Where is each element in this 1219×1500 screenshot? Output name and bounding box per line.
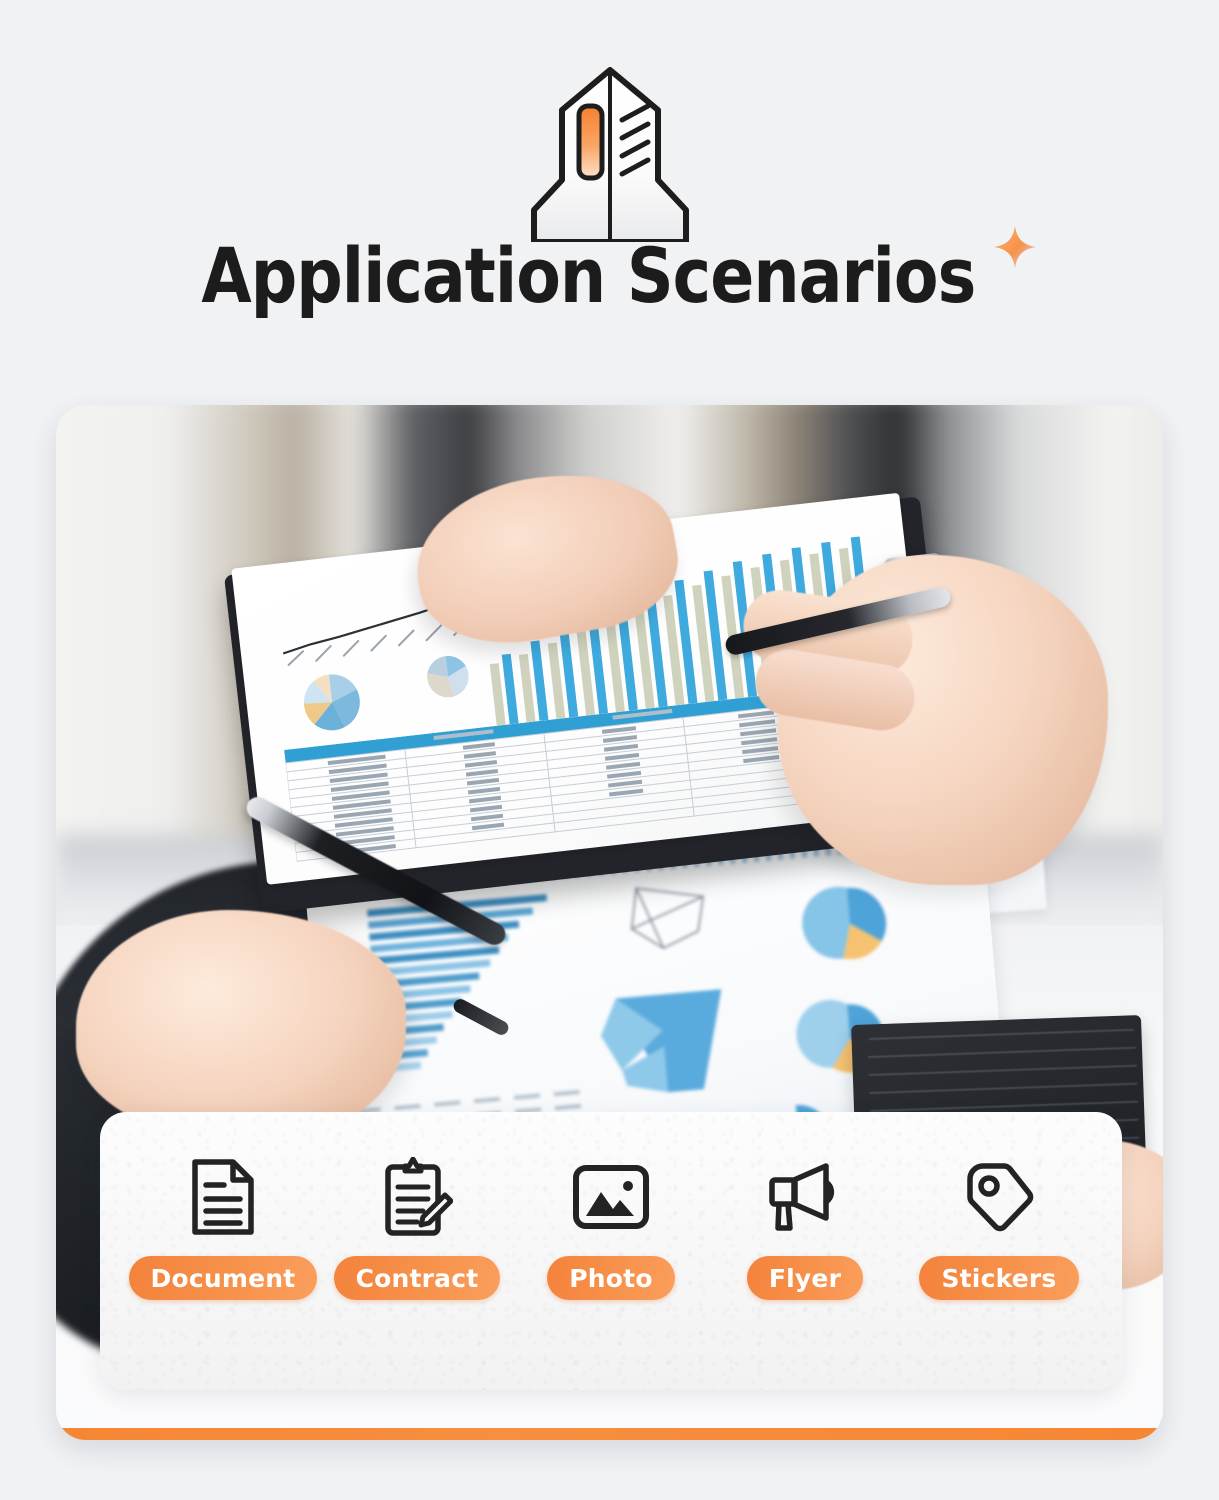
page-title: Application Scenarios — [202, 238, 976, 314]
category-label-photo[interactable]: Photo — [547, 1256, 674, 1300]
category-item-document[interactable]: Document — [130, 1154, 316, 1300]
category-item-contract[interactable]: Contract — [324, 1154, 510, 1300]
header: Application Scenarios — [0, 0, 1219, 372]
price-tag-icon — [962, 1154, 1036, 1240]
category-item-stickers[interactable]: Stickers — [906, 1154, 1092, 1300]
sparkle-star-icon — [992, 224, 1038, 270]
report-pie-chart-2 — [414, 650, 481, 705]
category-item-flyer[interactable]: Flyer — [712, 1154, 898, 1300]
report-pie-chart-1 — [286, 666, 379, 739]
category-label-flyer[interactable]: Flyer — [747, 1256, 863, 1300]
category-card: Document Contract — [100, 1112, 1122, 1390]
image-icon — [572, 1154, 650, 1240]
second-hand-with-pen — [76, 910, 406, 1140]
application-scenarios-page: Application Scenarios — [0, 0, 1219, 1500]
building-tower-icon — [500, 62, 720, 242]
category-row: Document Contract — [130, 1154, 1092, 1300]
clipboard-pencil-icon — [381, 1154, 453, 1240]
document-icon — [190, 1154, 256, 1240]
category-label-contract[interactable]: Contract — [334, 1256, 501, 1300]
category-label-stickers[interactable]: Stickers — [919, 1256, 1078, 1300]
category-item-photo[interactable]: Photo — [518, 1154, 704, 1300]
page-title-row: Application Scenarios — [0, 238, 1219, 314]
category-label-document[interactable]: Document — [129, 1256, 318, 1300]
megaphone-icon — [764, 1154, 846, 1240]
